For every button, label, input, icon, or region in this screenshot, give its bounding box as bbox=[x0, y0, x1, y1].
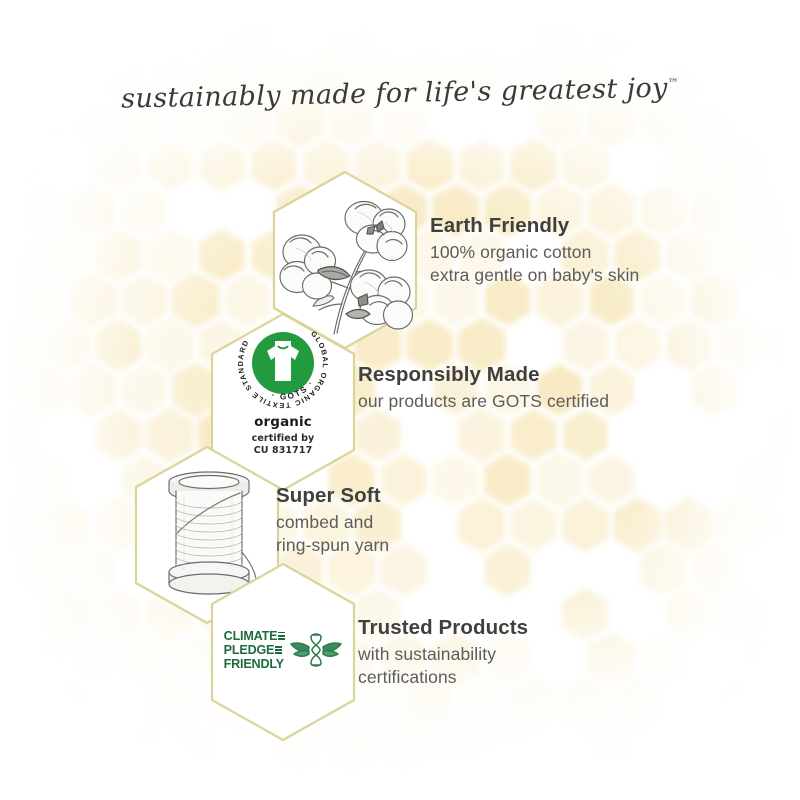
cpf-bar-icon bbox=[278, 632, 285, 641]
feature-desc-line-1: with sustainability bbox=[358, 643, 528, 666]
cpf-line-1: CLIMATE bbox=[224, 629, 278, 643]
cpf-line-2: PLEDGE bbox=[224, 643, 275, 657]
climate-pledge-wordmark: CLIMATE PLEDGE FRIENDLY bbox=[224, 629, 286, 671]
winged-hourglass-icon bbox=[290, 628, 342, 672]
cpf-bar-icon bbox=[275, 646, 282, 655]
promotional-banner: sustainably made for life's greatest joy… bbox=[0, 0, 800, 800]
cpf-line-3: FRIENDLY bbox=[224, 657, 284, 671]
feature-desc-line-2: certifications bbox=[358, 666, 528, 689]
feature-text-trusted-products: Trusted Products with sustainability cer… bbox=[358, 616, 528, 689]
feature-title: Trusted Products bbox=[358, 616, 528, 640]
climate-pledge-friendly-icon: CLIMATE PLEDGE FRIENDLY bbox=[212, 617, 354, 683]
feature-trusted-products: CLIMATE PLEDGE FRIENDLY bbox=[0, 0, 800, 800]
